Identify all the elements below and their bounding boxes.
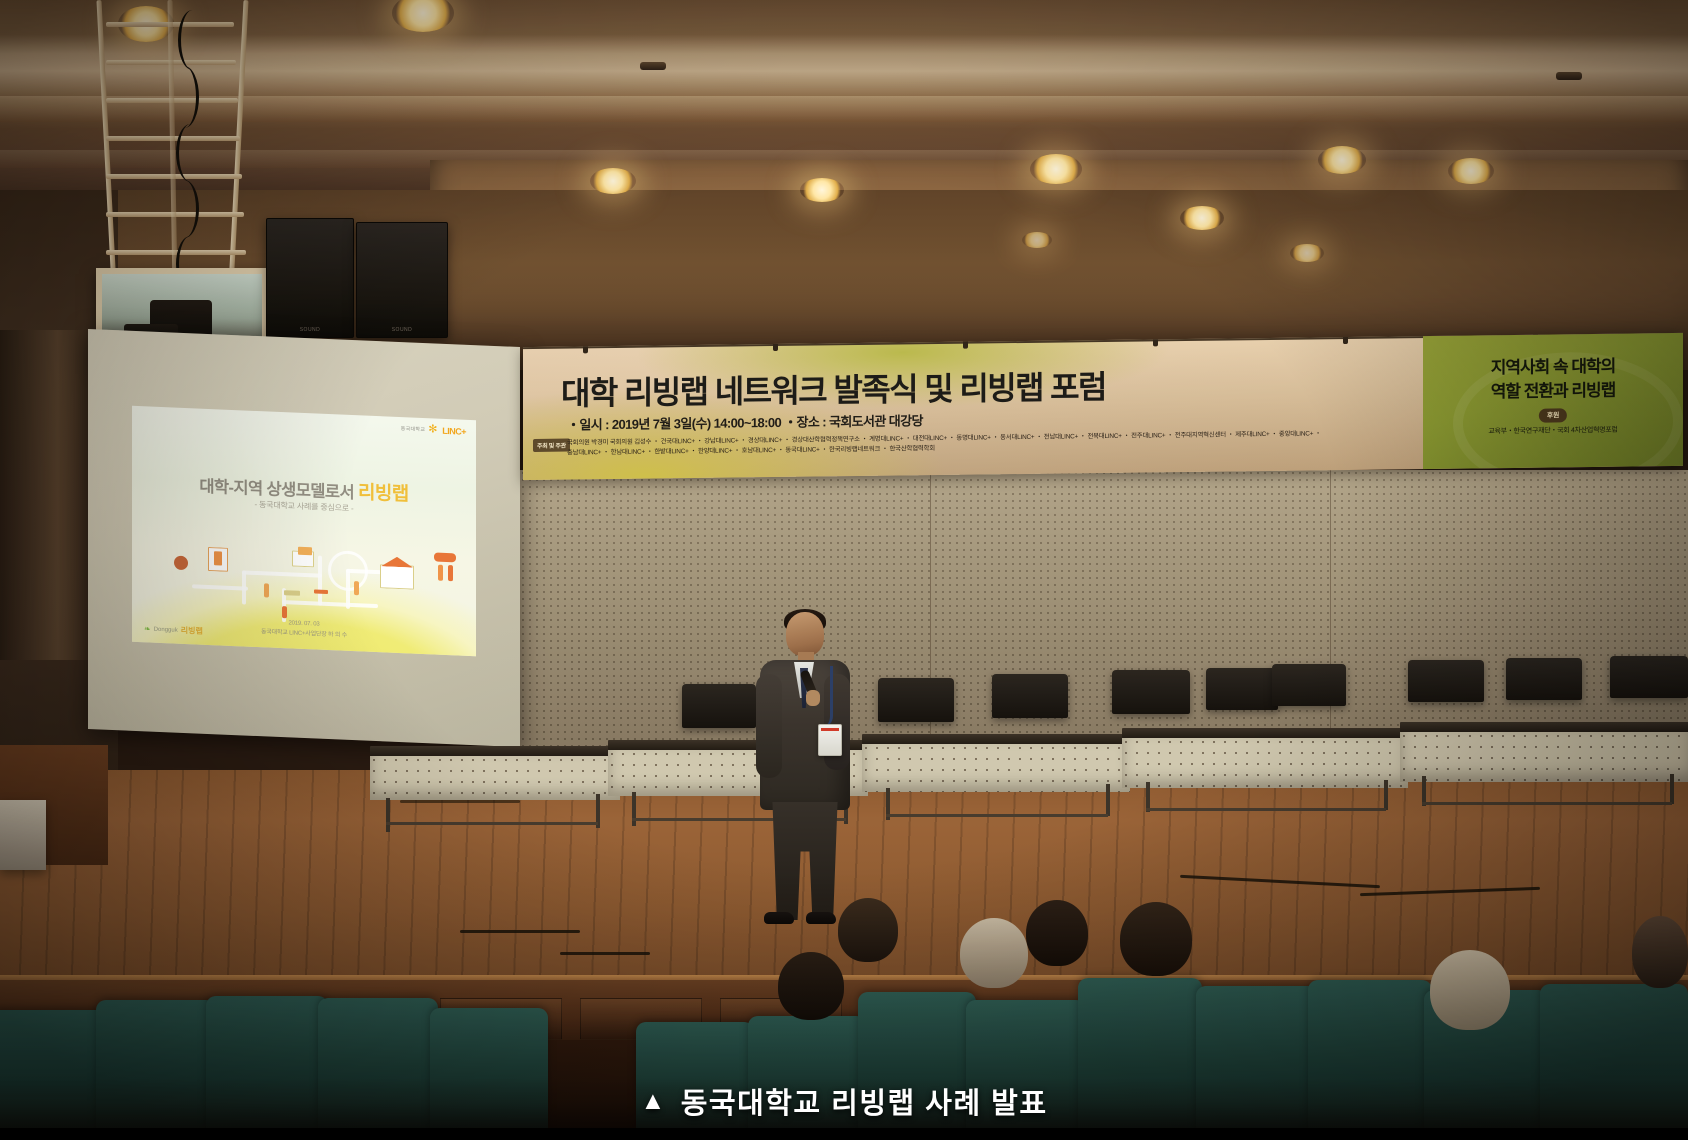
banner-side-panel: 지역사회 속 대학의 역할 전환과 리빙랩 후원 교육부・한국연구재단・국회 4… xyxy=(1423,333,1683,469)
panel-chair xyxy=(1610,656,1688,698)
shop-awning-icon xyxy=(434,552,456,562)
signpost-icon xyxy=(314,589,328,594)
panel-table-row xyxy=(370,718,1688,804)
table-top xyxy=(1122,728,1408,738)
triangle-marker-icon: ▲ xyxy=(640,1089,666,1114)
power-cable xyxy=(170,66,199,128)
table-crossbar xyxy=(886,814,1108,817)
event-banner: 대학 리빙랩 네트워크 발족식 및 리빙랩 포럼 ・일시 : 2019년 7월 … xyxy=(523,333,1683,480)
person-icon xyxy=(282,606,287,618)
banner-clip xyxy=(963,340,968,349)
table-top xyxy=(370,746,620,756)
person-icon xyxy=(354,581,359,595)
ceiling-downlight xyxy=(1180,206,1224,230)
conference-photo: SOUND SOUND xyxy=(0,0,1688,1140)
ceiling-downlight xyxy=(1318,146,1366,174)
power-cable xyxy=(176,124,205,182)
table-skirt xyxy=(370,756,620,800)
slide-title-highlight: 리빙랩 xyxy=(358,482,409,505)
audience-head xyxy=(838,898,898,962)
banner-organizer-tag: 주최 및 주관 xyxy=(533,439,570,452)
house-icon xyxy=(380,564,414,589)
presenter-name-badge xyxy=(818,724,842,756)
table-leg xyxy=(1384,780,1388,810)
leaf-icon: ❧ xyxy=(144,624,151,633)
table-skirt xyxy=(1122,738,1408,788)
presenter-with-microphone xyxy=(742,612,862,930)
house-roof-icon xyxy=(378,556,416,568)
slide-badge-brand: 리빙랩 xyxy=(181,625,203,637)
road-segment xyxy=(318,556,322,606)
floor-cable xyxy=(400,800,520,803)
ceiling-downlight xyxy=(1030,154,1082,184)
road-segment xyxy=(242,570,322,577)
panel-chair xyxy=(992,674,1068,718)
photo-caption: ▲ 동국대학교 리빙랩 사례 발표 xyxy=(640,1080,1047,1122)
sponsor-pill: 후원 xyxy=(1539,408,1567,422)
floor-cable xyxy=(560,952,650,955)
person-icon xyxy=(264,583,269,597)
left-wall-panel xyxy=(0,330,96,660)
presentation-slide: 동국대학교 ✻ LINC+ 대학-지역 상생모델로서 리빙랩 - 동국대학교 사… xyxy=(132,406,476,656)
table-skirt xyxy=(1400,732,1688,782)
audience-head xyxy=(1632,916,1688,988)
presenter-shoe xyxy=(806,912,836,924)
ceiling-downlight xyxy=(1290,244,1324,262)
side-panel-line-2: 역할 전환과 리빙랩 xyxy=(1423,375,1683,403)
floor-cable xyxy=(460,930,580,933)
logo-linc-brand: LINC+ xyxy=(442,425,466,436)
pa-speaker-left: SOUND xyxy=(266,218,354,338)
logo-university-name: 동국대학교 xyxy=(401,425,426,433)
audience-head xyxy=(1120,902,1192,976)
table-leg xyxy=(386,798,390,832)
table-crossbar xyxy=(1422,802,1672,805)
presenter-head xyxy=(786,612,824,656)
panel-chair xyxy=(1506,658,1582,700)
bottom-black-bar xyxy=(0,1128,1688,1140)
banner-clip xyxy=(1343,335,1348,344)
panel-chair xyxy=(1408,660,1484,702)
ceiling-vent xyxy=(640,62,666,70)
flower-icon: ✻ xyxy=(428,424,439,435)
table-leg xyxy=(1670,774,1674,804)
bench-icon xyxy=(284,590,300,596)
photo-caption-text: 동국대학교 리빙랩 사례 발표 xyxy=(681,1080,1048,1122)
road-segment xyxy=(192,584,248,590)
panel-chair xyxy=(1112,670,1190,714)
table-leg xyxy=(1106,784,1110,816)
table-crossbar xyxy=(386,822,598,825)
ceiling-downlight xyxy=(1448,158,1494,184)
panel-chair xyxy=(1206,668,1278,710)
audience-head xyxy=(778,952,844,1020)
speaker-brand-label: SOUND xyxy=(357,327,447,333)
tree-icon xyxy=(328,550,368,592)
pa-speaker-right: SOUND xyxy=(356,222,448,338)
person-icon xyxy=(438,565,443,581)
projection-screen: 동국대학교 ✻ LINC+ 대학-지역 상생모델로서 리빙랩 - 동국대학교 사… xyxy=(88,329,520,747)
banner-clip xyxy=(583,344,588,353)
table-top xyxy=(1400,722,1688,732)
banner-clip xyxy=(773,342,778,351)
ceiling-downlight xyxy=(1022,232,1052,248)
presenter-trousers xyxy=(768,802,842,920)
panel-chair xyxy=(878,678,954,722)
power-cable xyxy=(170,180,199,238)
ceiling-downlight xyxy=(590,168,636,194)
panel-chair xyxy=(1272,664,1346,706)
ceiling-downlight xyxy=(800,178,844,202)
presenter-shoe xyxy=(764,912,794,924)
ceiling-vent xyxy=(1556,72,1582,80)
lectern xyxy=(0,800,46,870)
power-cable xyxy=(178,10,207,70)
table-skirt xyxy=(862,744,1130,792)
presenter-left-arm xyxy=(756,674,782,778)
screen-surface: 동국대학교 ✻ LINC+ 대학-지역 상생모델로서 리빙랩 - 동국대학교 사… xyxy=(88,329,520,747)
audience-head xyxy=(1026,900,1088,966)
presenter-hand xyxy=(806,690,820,706)
table-crossbar xyxy=(1146,808,1386,811)
table-top xyxy=(862,734,1130,744)
banner-clip xyxy=(1153,337,1158,346)
camera-icon xyxy=(174,556,188,571)
ladder-rail xyxy=(228,0,248,288)
person-icon xyxy=(448,565,453,581)
building-roof-icon xyxy=(298,547,312,556)
audience-head xyxy=(960,918,1028,988)
ladder-rail xyxy=(96,0,116,288)
road-segment xyxy=(282,600,378,608)
speaker-brand-label: SOUND xyxy=(267,327,353,333)
slide-badge-prefix: Dongguk xyxy=(154,626,178,633)
audience-head xyxy=(1430,950,1510,1030)
building-door-icon xyxy=(214,551,222,565)
slide-logo: 동국대학교 ✻ LINC+ xyxy=(401,423,466,437)
